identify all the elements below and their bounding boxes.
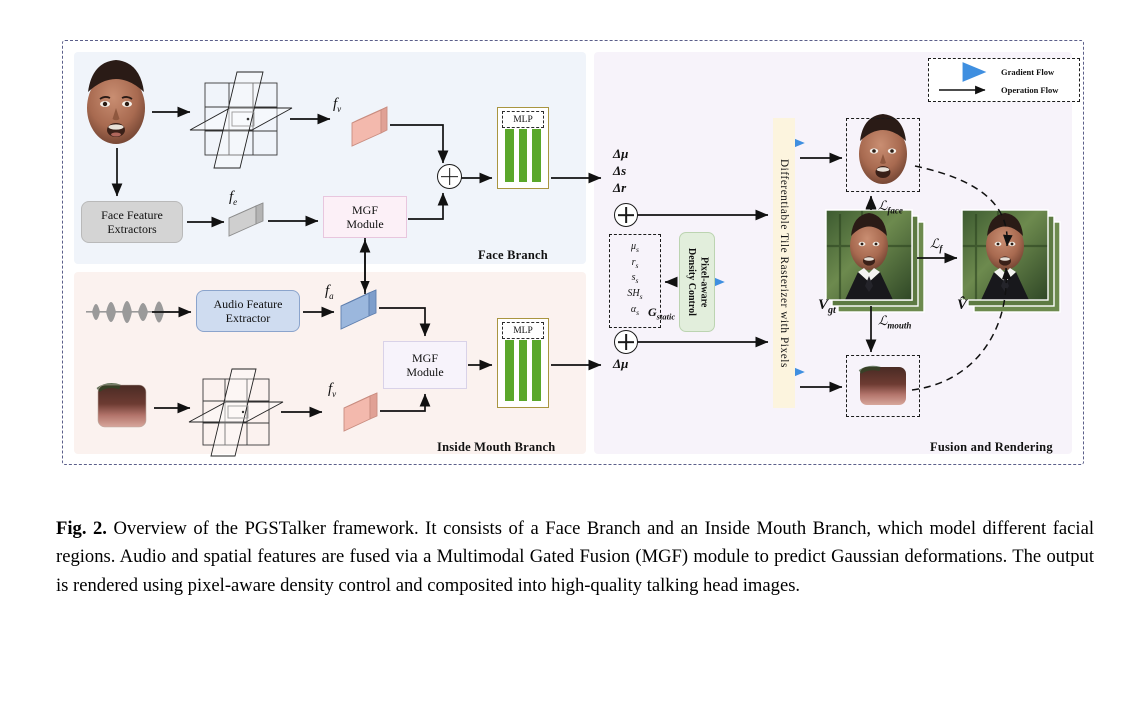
legend-label-gradient-flow: Gradient Flow xyxy=(1001,67,1054,77)
delta-mu-face: Δμ xyxy=(613,145,628,162)
label-fa: fa xyxy=(325,283,334,301)
sum-operator-face-fusion xyxy=(614,203,638,227)
audio-extractor-line1: Audio Feature xyxy=(214,297,283,311)
rasterizer-text: Differentiable Tile Rasterizer with Pixe… xyxy=(778,159,790,368)
mgf-module-mouth-box: MGF Module xyxy=(383,341,467,389)
delta-s-face: Δs xyxy=(613,162,628,179)
pixel-aware-density-control-box: Pixel-awareDensity Control xyxy=(679,232,715,332)
face-extractor-line1: Face Feature xyxy=(101,208,163,222)
mgf-face-line2: Module xyxy=(346,217,383,231)
mgf-module-face-box: MGF Module xyxy=(323,196,407,238)
face-extractor-line2: Extractors xyxy=(107,222,156,236)
audio-extractor-line2: Extractor xyxy=(226,311,271,325)
legend-label-operation-flow: Operation Flow xyxy=(1001,85,1058,95)
mlp-block-face: MLP xyxy=(497,107,549,189)
mlp-block-mouth: MLP xyxy=(497,318,549,408)
panel-label-face-branch: Face Branch xyxy=(478,248,548,263)
figure-2-pgstalker-overview: Gradient Flow Operation Flow Face Featur… xyxy=(0,0,1146,710)
loss-f-label: ℒf xyxy=(930,236,942,254)
vgt-label: Vgt xyxy=(818,297,836,316)
mlp-face-title: MLP xyxy=(502,111,544,128)
delta-r-face: Δr xyxy=(613,179,628,196)
legend-row-operation-flow: Operation Flow xyxy=(937,82,1058,98)
panel-label-inside-mouth-branch: Inside Mouth Branch xyxy=(437,440,555,455)
mlp-mouth-title: MLP xyxy=(502,322,544,339)
rendered-face-frame xyxy=(846,118,920,192)
gstatic-label: Gstatic xyxy=(648,305,675,321)
rendered-mouth-frame xyxy=(846,355,920,417)
gstatic-param-mu: μs xyxy=(610,240,660,256)
operation-flow-arrow-icon xyxy=(937,85,995,95)
face-deformation-deltas: Δμ Δs Δr xyxy=(613,145,628,196)
mgf-face-line1: MGF xyxy=(352,203,378,217)
gstatic-param-r: rs xyxy=(610,256,660,272)
loss-mouth-label: ℒmouth xyxy=(878,313,911,331)
panel-fusion-rendering xyxy=(594,52,1072,454)
audio-feature-extractor-box: Audio Feature Extractor xyxy=(196,290,300,332)
pixel-density-text: Pixel-awareDensity Control xyxy=(685,248,710,316)
gstatic-param-sh: SHs xyxy=(610,287,660,303)
label-fv-face: fv xyxy=(333,96,341,114)
mgf-mouth-line1: MGF xyxy=(412,351,438,365)
loss-face-label: ℒface xyxy=(878,198,903,216)
face-feature-extractors-box: Face Feature Extractors xyxy=(81,201,183,243)
legend-row-gradient-flow: Gradient Flow xyxy=(937,64,1054,80)
sum-operator-mouth-fusion xyxy=(614,330,638,354)
delta-mu-mouth: Δμ xyxy=(613,356,628,372)
legend-box: Gradient Flow Operation Flow xyxy=(928,58,1080,102)
sum-operator-face-branch xyxy=(437,164,462,189)
gradient-flow-arrow-icon xyxy=(937,67,995,77)
figure-caption-text: Overview of the PGSTalker framework. It … xyxy=(56,518,1094,596)
mlp-face-bars xyxy=(505,129,541,182)
figure-caption: Fig. 2. Overview of the PGSTalker framew… xyxy=(56,515,1094,600)
mlp-mouth-bars xyxy=(505,340,541,401)
differentiable-tile-rasterizer-bar: Differentiable Tile Rasterizer with Pixe… xyxy=(773,118,795,408)
mgf-mouth-line2: Module xyxy=(406,365,443,379)
gstatic-param-s: ss xyxy=(610,271,660,287)
label-fv-mouth: fv xyxy=(328,381,336,399)
vhat-label: V̂ xyxy=(957,297,967,314)
panel-label-fusion-rendering: Fusion and Rendering xyxy=(930,440,1053,455)
label-fe: fe xyxy=(229,189,237,207)
figure-number: Fig. 2. xyxy=(56,518,107,539)
